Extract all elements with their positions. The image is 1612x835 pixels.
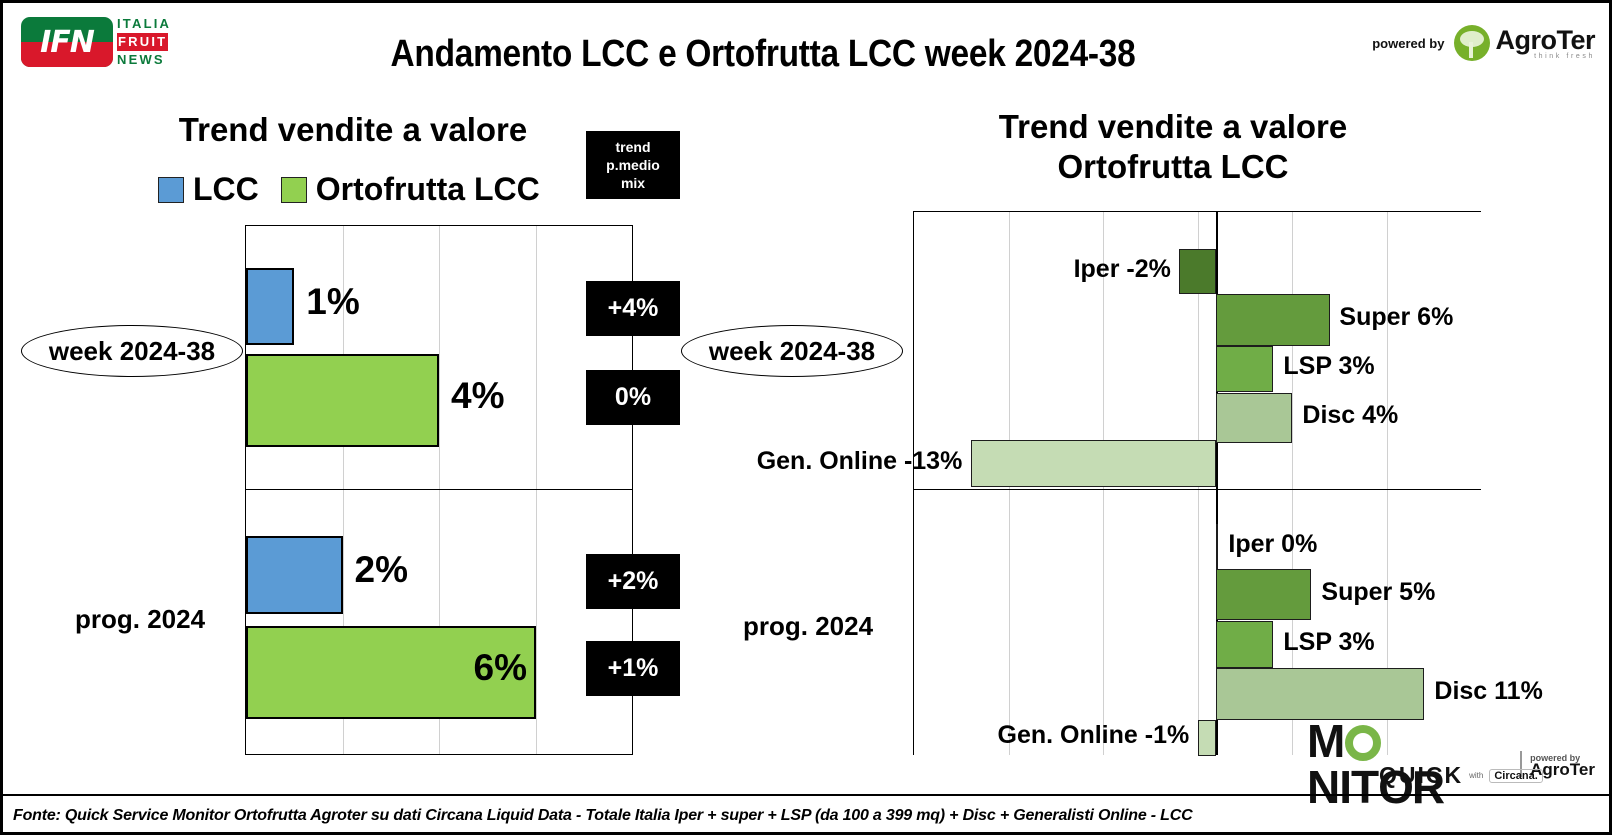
right-bar-chart: Iper -2%Super 6%LSP 3%Disc 4%Gen. Online… (913, 211, 1481, 755)
left-bar-lcc (246, 536, 343, 614)
right-bar-gen-online (971, 440, 1217, 487)
agroter-logo: AgroTer think fresh (1454, 25, 1595, 61)
right-bar-label: Super 6% (1339, 303, 1453, 332)
agroter-wordmark: AgroTer (1495, 27, 1595, 53)
left-bar-lcc (246, 268, 294, 345)
ifn-wordmark: ITALIA FRUIT NEWS (117, 15, 187, 69)
right-bar-iper (1179, 249, 1217, 294)
legend-label-lcc: LCC (193, 171, 259, 208)
right-bar-label: Disc 11% (1434, 677, 1542, 706)
right-chart-title: Trend vendite a valore Ortofrutta LCC (843, 107, 1503, 187)
page-title: Andamento LCC e Ortofrutta LCC week 2024… (297, 33, 1230, 76)
slide-header: IFN ITALIA FRUIT NEWS Andamento LCC e Or… (3, 3, 1609, 95)
trend-pmedio-mix-value: 0% (586, 370, 680, 425)
right-bar-disc (1216, 668, 1424, 720)
quick-wordmark: QUICK (1379, 762, 1463, 789)
left-chart-group-separator (246, 489, 632, 490)
legend-swatch-lcc (158, 177, 184, 203)
ifn-badge-icon: IFN (21, 17, 113, 67)
right-bar-label: Gen. Online -13% (757, 447, 963, 476)
right-bar-label: Super 5% (1321, 578, 1435, 607)
legend-item-ortofrutta: Ortofrutta LCC (281, 171, 540, 208)
trend-pmedio-mix-header: trend p.medio mix (586, 131, 680, 199)
monitor-with-label: with (1469, 771, 1483, 781)
legend-swatch-ortofrutta (281, 177, 307, 203)
chart-legend: LCC Ortofrutta LCC (158, 171, 540, 208)
left-bar-ortofrutta-lcc (246, 354, 439, 447)
footer-divider (3, 794, 1609, 796)
right-bar-disc (1216, 393, 1292, 443)
right-bar-label: Gen. Online -1% (998, 721, 1190, 750)
trend-pmedio-mix-value: +4% (586, 281, 680, 336)
trend-hdr-line2: p.medio (606, 156, 660, 174)
right-group-label-prog: prog. 2024 (743, 611, 873, 642)
right-bar-gen-online (1198, 720, 1217, 756)
slide-root: IFN ITALIA FRUIT NEWS Andamento LCC e Or… (0, 0, 1612, 835)
right-chart-title-line1: Trend vendite a valore (843, 107, 1503, 147)
trend-pmedio-mix-value: +1% (586, 641, 680, 696)
right-bar-iper (1216, 524, 1218, 569)
trend-hdr-line3: mix (621, 174, 645, 192)
right-bar-label: Iper -2% (1074, 255, 1171, 284)
ifn-badge-text: IFN (21, 17, 113, 67)
powered-by-label: powered by (1372, 36, 1444, 51)
right-bar-super (1216, 294, 1329, 346)
right-bar-lsp (1216, 346, 1273, 392)
right-bar-label: LSP 3% (1283, 352, 1374, 381)
source-note: Fonte: Quick Service Monitor Ortofrutta … (13, 807, 1192, 825)
monitor-o-icon (1345, 725, 1381, 761)
legend-item-lcc: LCC (158, 171, 259, 208)
monitor-quick-logo: MNITOR powered by AgroTer QUICK with Cir… (1307, 718, 1595, 790)
left-group-label-week: week 2024-38 (21, 325, 243, 377)
right-bar-label: Disc 4% (1302, 401, 1398, 430)
trend-hdr-line1: trend (616, 138, 651, 156)
right-bar-label: Iper 0% (1228, 530, 1317, 559)
tree-icon (1454, 25, 1490, 61)
left-bar-value-label: 6% (474, 647, 527, 689)
right-chart-group-separator (914, 489, 1481, 490)
powered-by-block: powered by AgroTer think fresh (1372, 25, 1595, 61)
circana-logo: Circana. (1489, 769, 1542, 783)
left-chart-title: Trend vendite a valore (103, 111, 603, 149)
left-bar-value-label: 1% (306, 281, 359, 323)
left-group-label-prog: prog. 2024 (75, 604, 205, 635)
ifn-word-news: NEWS (117, 51, 187, 69)
legend-label-ortofrutta: Ortofrutta LCC (316, 171, 540, 208)
monitor-quick-row: QUICK with Circana. (1379, 762, 1543, 789)
ifn-logo: IFN ITALIA FRUIT NEWS (21, 15, 184, 71)
trend-pmedio-mix-value: +2% (586, 554, 680, 609)
ifn-word-fruit: FRUIT (117, 33, 168, 51)
left-bar-value-label: 2% (355, 549, 408, 591)
right-bar-label: LSP 3% (1283, 628, 1374, 657)
left-bar-chart: 1%4%2%6% (245, 225, 633, 755)
right-bar-super (1216, 569, 1311, 620)
left-bar-value-label: 4% (451, 375, 504, 417)
left-chart-gridline (536, 226, 537, 754)
right-bar-lsp (1216, 621, 1273, 668)
right-chart-title-line2: Ortofrutta LCC (843, 147, 1503, 187)
right-group-label-week: week 2024-38 (681, 325, 903, 377)
ifn-word-italia: ITALIA (117, 15, 187, 33)
